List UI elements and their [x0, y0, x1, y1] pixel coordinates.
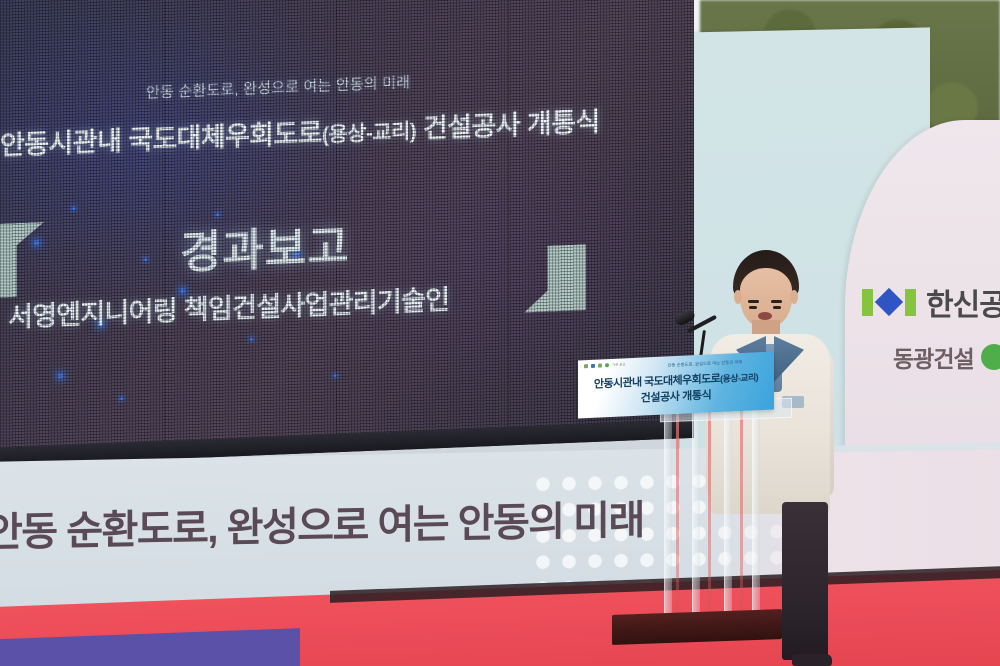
sponsor-logo-hanshin-label: 한신공 [926, 280, 1000, 324]
speaker-person [700, 250, 840, 666]
mini-logo-4-icon [605, 363, 609, 367]
sponsor-logo-hanshin: 한신공 [862, 280, 1000, 324]
speaker-mouth [758, 312, 772, 320]
logo-bar-left-icon [862, 289, 873, 316]
led-presenter-line: 서영엔지니어링 책임건설사업관리기술인 강 창 훈 [8, 278, 449, 335]
green-circle-icon [981, 344, 1000, 370]
led-presenter-role: 서영엔지니어링 책임건설사업관리기술인 [8, 285, 449, 333]
close-quote-icon [524, 244, 586, 312]
open-quote-icon [0, 222, 44, 299]
mini-logo-3-icon [598, 363, 602, 367]
sponsor-logo-dongkwang: 동광건설 [893, 340, 1000, 374]
speaker-trousers [782, 502, 828, 660]
podium-base [612, 609, 782, 645]
podium-sign-logo-label: 기관 로고 [612, 361, 626, 367]
led-title-main: 안동시관내 국도대체우회도로 [0, 118, 322, 161]
mini-logo-2-icon [591, 363, 595, 367]
logo-bar-right-icon [905, 289, 916, 316]
sponsor-logo-dongkwang-label: 동광건설 [893, 340, 974, 374]
logo-diamond-icon [875, 288, 903, 316]
podium-sign-line1-paren: (용상-교리) [720, 372, 758, 384]
lower-banner-slogan: 안동 순환도로, 완성으로 여는 안동의 미래 [0, 488, 626, 558]
speaker-shoe [792, 654, 832, 666]
led-title: 안동시관내 국도대체우회도로(용상-교리) 건설공사 개통식 [0, 99, 610, 163]
led-subtitle: 안동 순환도로, 완성으로 여는 안동의 미래 [146, 71, 410, 103]
mini-logo-1-icon [584, 364, 588, 368]
led-headline: 경과보고 [180, 210, 350, 282]
ceremony-photo: 한신공 동광건설 안동 순환도로, 완성으로 여는 안동의 미래 안동시관 [0, 0, 1000, 666]
